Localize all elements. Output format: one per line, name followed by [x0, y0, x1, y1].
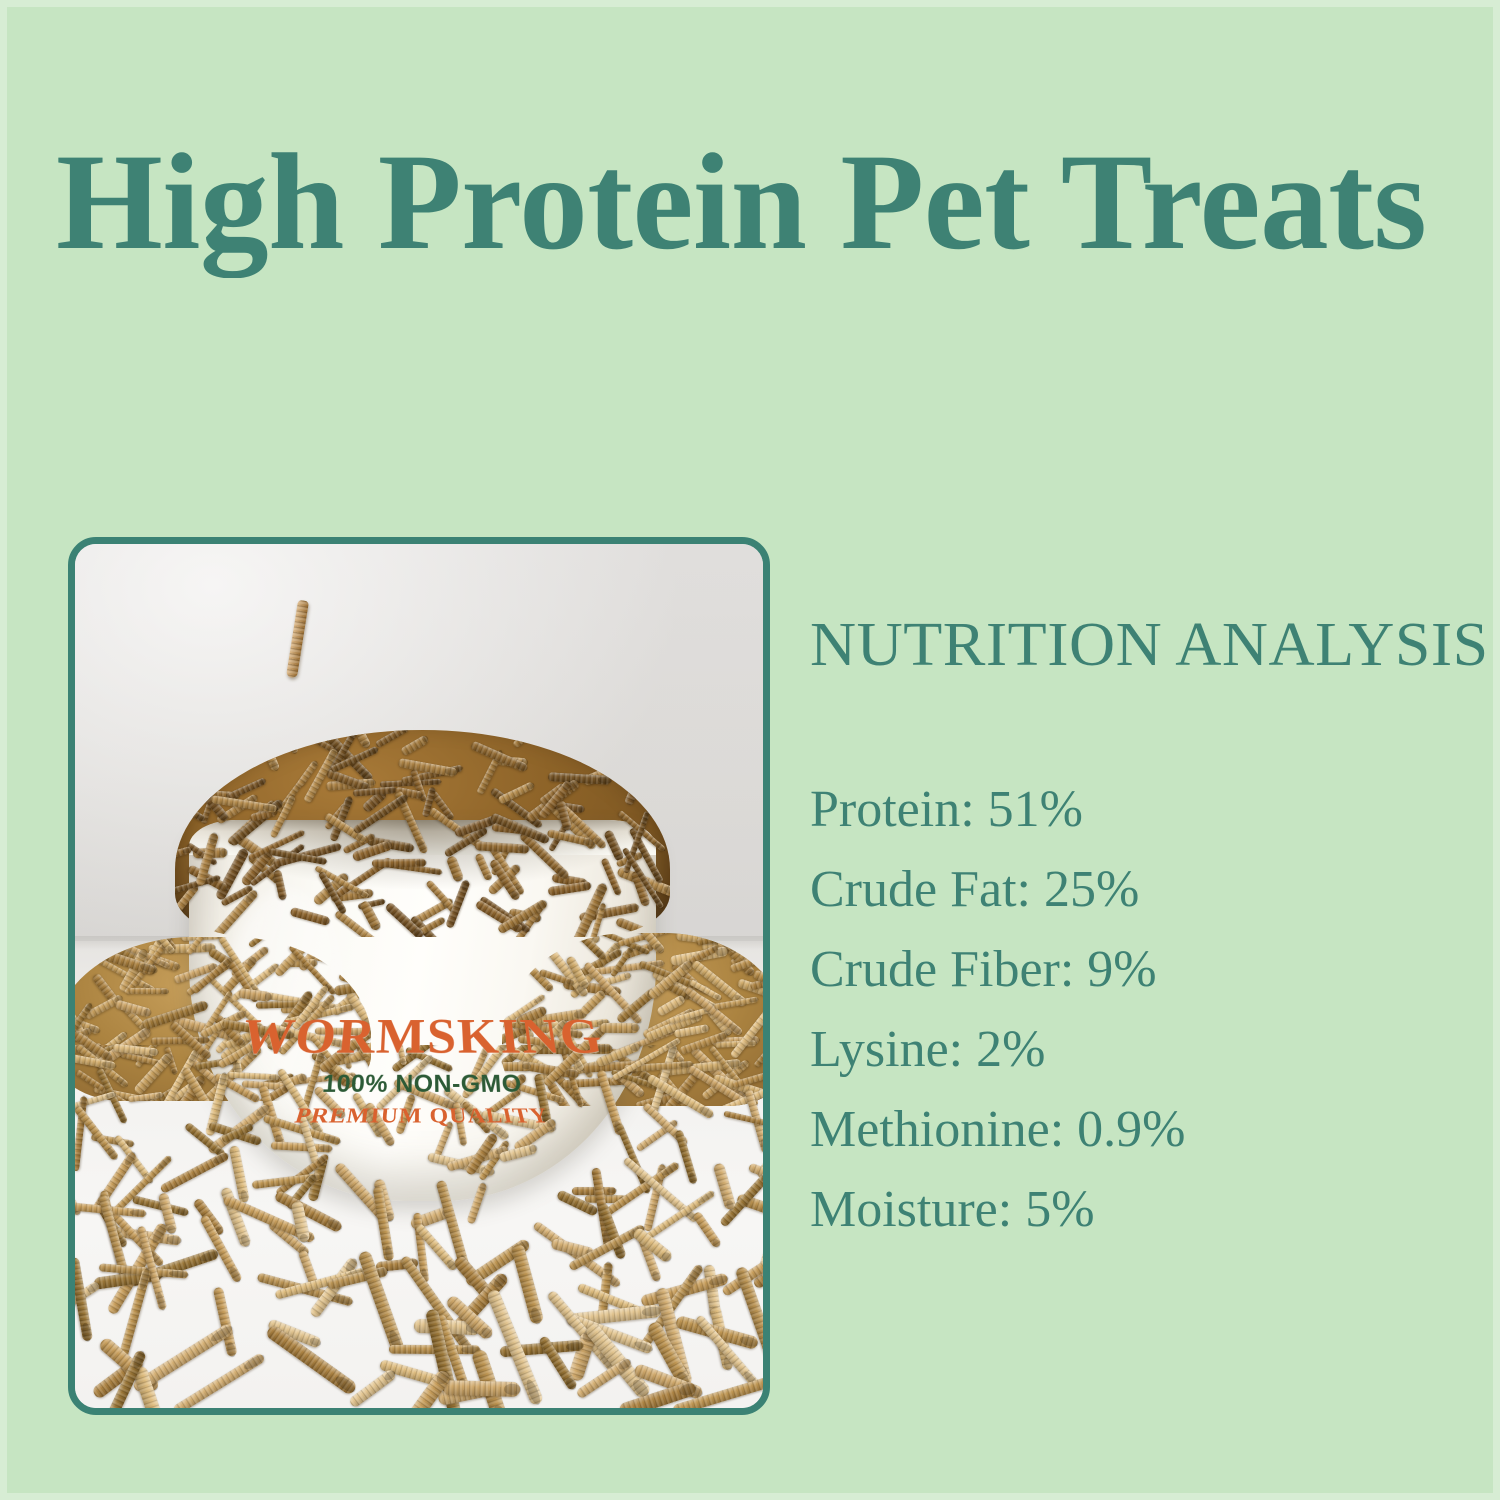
mealworm	[271, 1141, 332, 1153]
product-photo: WORMSKING 100% NON-GMO PREMIUM QUALITY	[75, 544, 763, 1408]
nutrition-item: Protein: 51%	[810, 770, 1470, 850]
mealworm	[443, 1380, 520, 1397]
mealworm	[75, 1257, 93, 1341]
mealworm	[471, 1348, 508, 1408]
mealworm	[400, 734, 430, 756]
nutrition-item: Lysine: 2%	[810, 1010, 1470, 1090]
infographic-page: High Protein Pet Treats WORMSKING 100% N…	[0, 0, 1500, 1500]
mealworm	[129, 987, 168, 994]
nutrition-item: Methionine: 0.9%	[810, 1090, 1470, 1170]
mealworm	[395, 1094, 416, 1136]
mealworm	[228, 1072, 279, 1081]
mealworm	[433, 1121, 453, 1158]
mealworm	[502, 1062, 530, 1071]
product-photo-frame: WORMSKING 100% NON-GMO PREMIUM QUALITY	[68, 537, 770, 1415]
mealworm	[372, 858, 426, 866]
mealworm	[692, 1211, 722, 1249]
mealworm	[213, 1287, 238, 1358]
mealworm	[466, 1182, 488, 1225]
nutrition-heading: NUTRITION ANALYSIS	[810, 614, 1490, 676]
nutrition-item: Crude Fat: 25%	[810, 850, 1470, 930]
mealworm	[694, 1314, 760, 1389]
mealworm	[511, 1243, 544, 1325]
nutrition-list: Protein: 51%Crude Fat: 25%Crude Fiber: 9…	[810, 770, 1470, 1250]
mealworm	[373, 1186, 395, 1262]
page-title: High Protein Pet Treats	[56, 133, 1449, 271]
mealworm	[712, 1162, 736, 1210]
mealworm	[375, 730, 409, 748]
nutrition-item: Crude Fiber: 9%	[810, 930, 1470, 1010]
mealworm	[600, 1022, 639, 1032]
nutrition-analysis-panel: NUTRITION ANALYSIS Protein: 51%Crude Fat…	[810, 614, 1470, 1250]
nutrition-item: Moisture: 5%	[810, 1170, 1470, 1250]
mealworm	[313, 1085, 347, 1120]
